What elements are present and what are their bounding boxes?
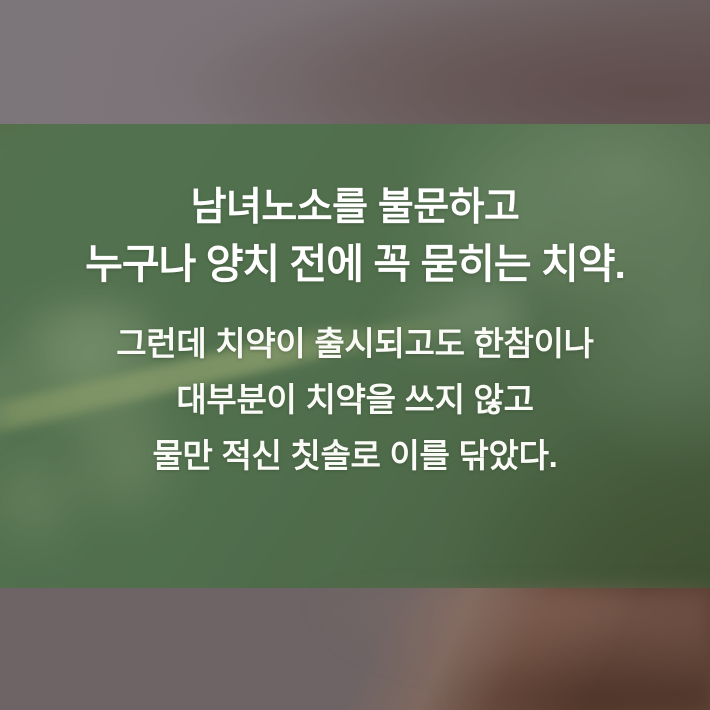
top-blurred-band — [0, 0, 710, 124]
headline: 남녀노소를 불문하고 누구나 양치 전에 꼭 묻히는 치약. — [85, 180, 625, 294]
body-line-2: 대부분이 치약을 쓰지 않고 — [116, 372, 594, 428]
headline-line-1: 남녀노소를 불문하고 — [85, 180, 625, 235]
body-line-3: 물만 적신 칫솔로 이를 닦았다. — [116, 428, 594, 484]
body-copy: 그런데 치약이 출시되고도 한참이나 대부분이 치약을 쓰지 않고 물만 적신 … — [116, 316, 594, 484]
caption-block: 남녀노소를 불문하고 누구나 양치 전에 꼭 묻히는 치약. 그런데 치약이 출… — [0, 124, 710, 588]
headline-line-2: 누구나 양치 전에 꼭 묻히는 치약. — [85, 235, 625, 293]
body-line-1: 그런데 치약이 출시되고도 한참이나 — [116, 316, 594, 372]
info-card-canvas: 남녀노소를 불문하고 누구나 양치 전에 꼭 묻히는 치약. 그런데 치약이 출… — [0, 0, 710, 710]
bottom-blurred-band — [0, 588, 710, 710]
